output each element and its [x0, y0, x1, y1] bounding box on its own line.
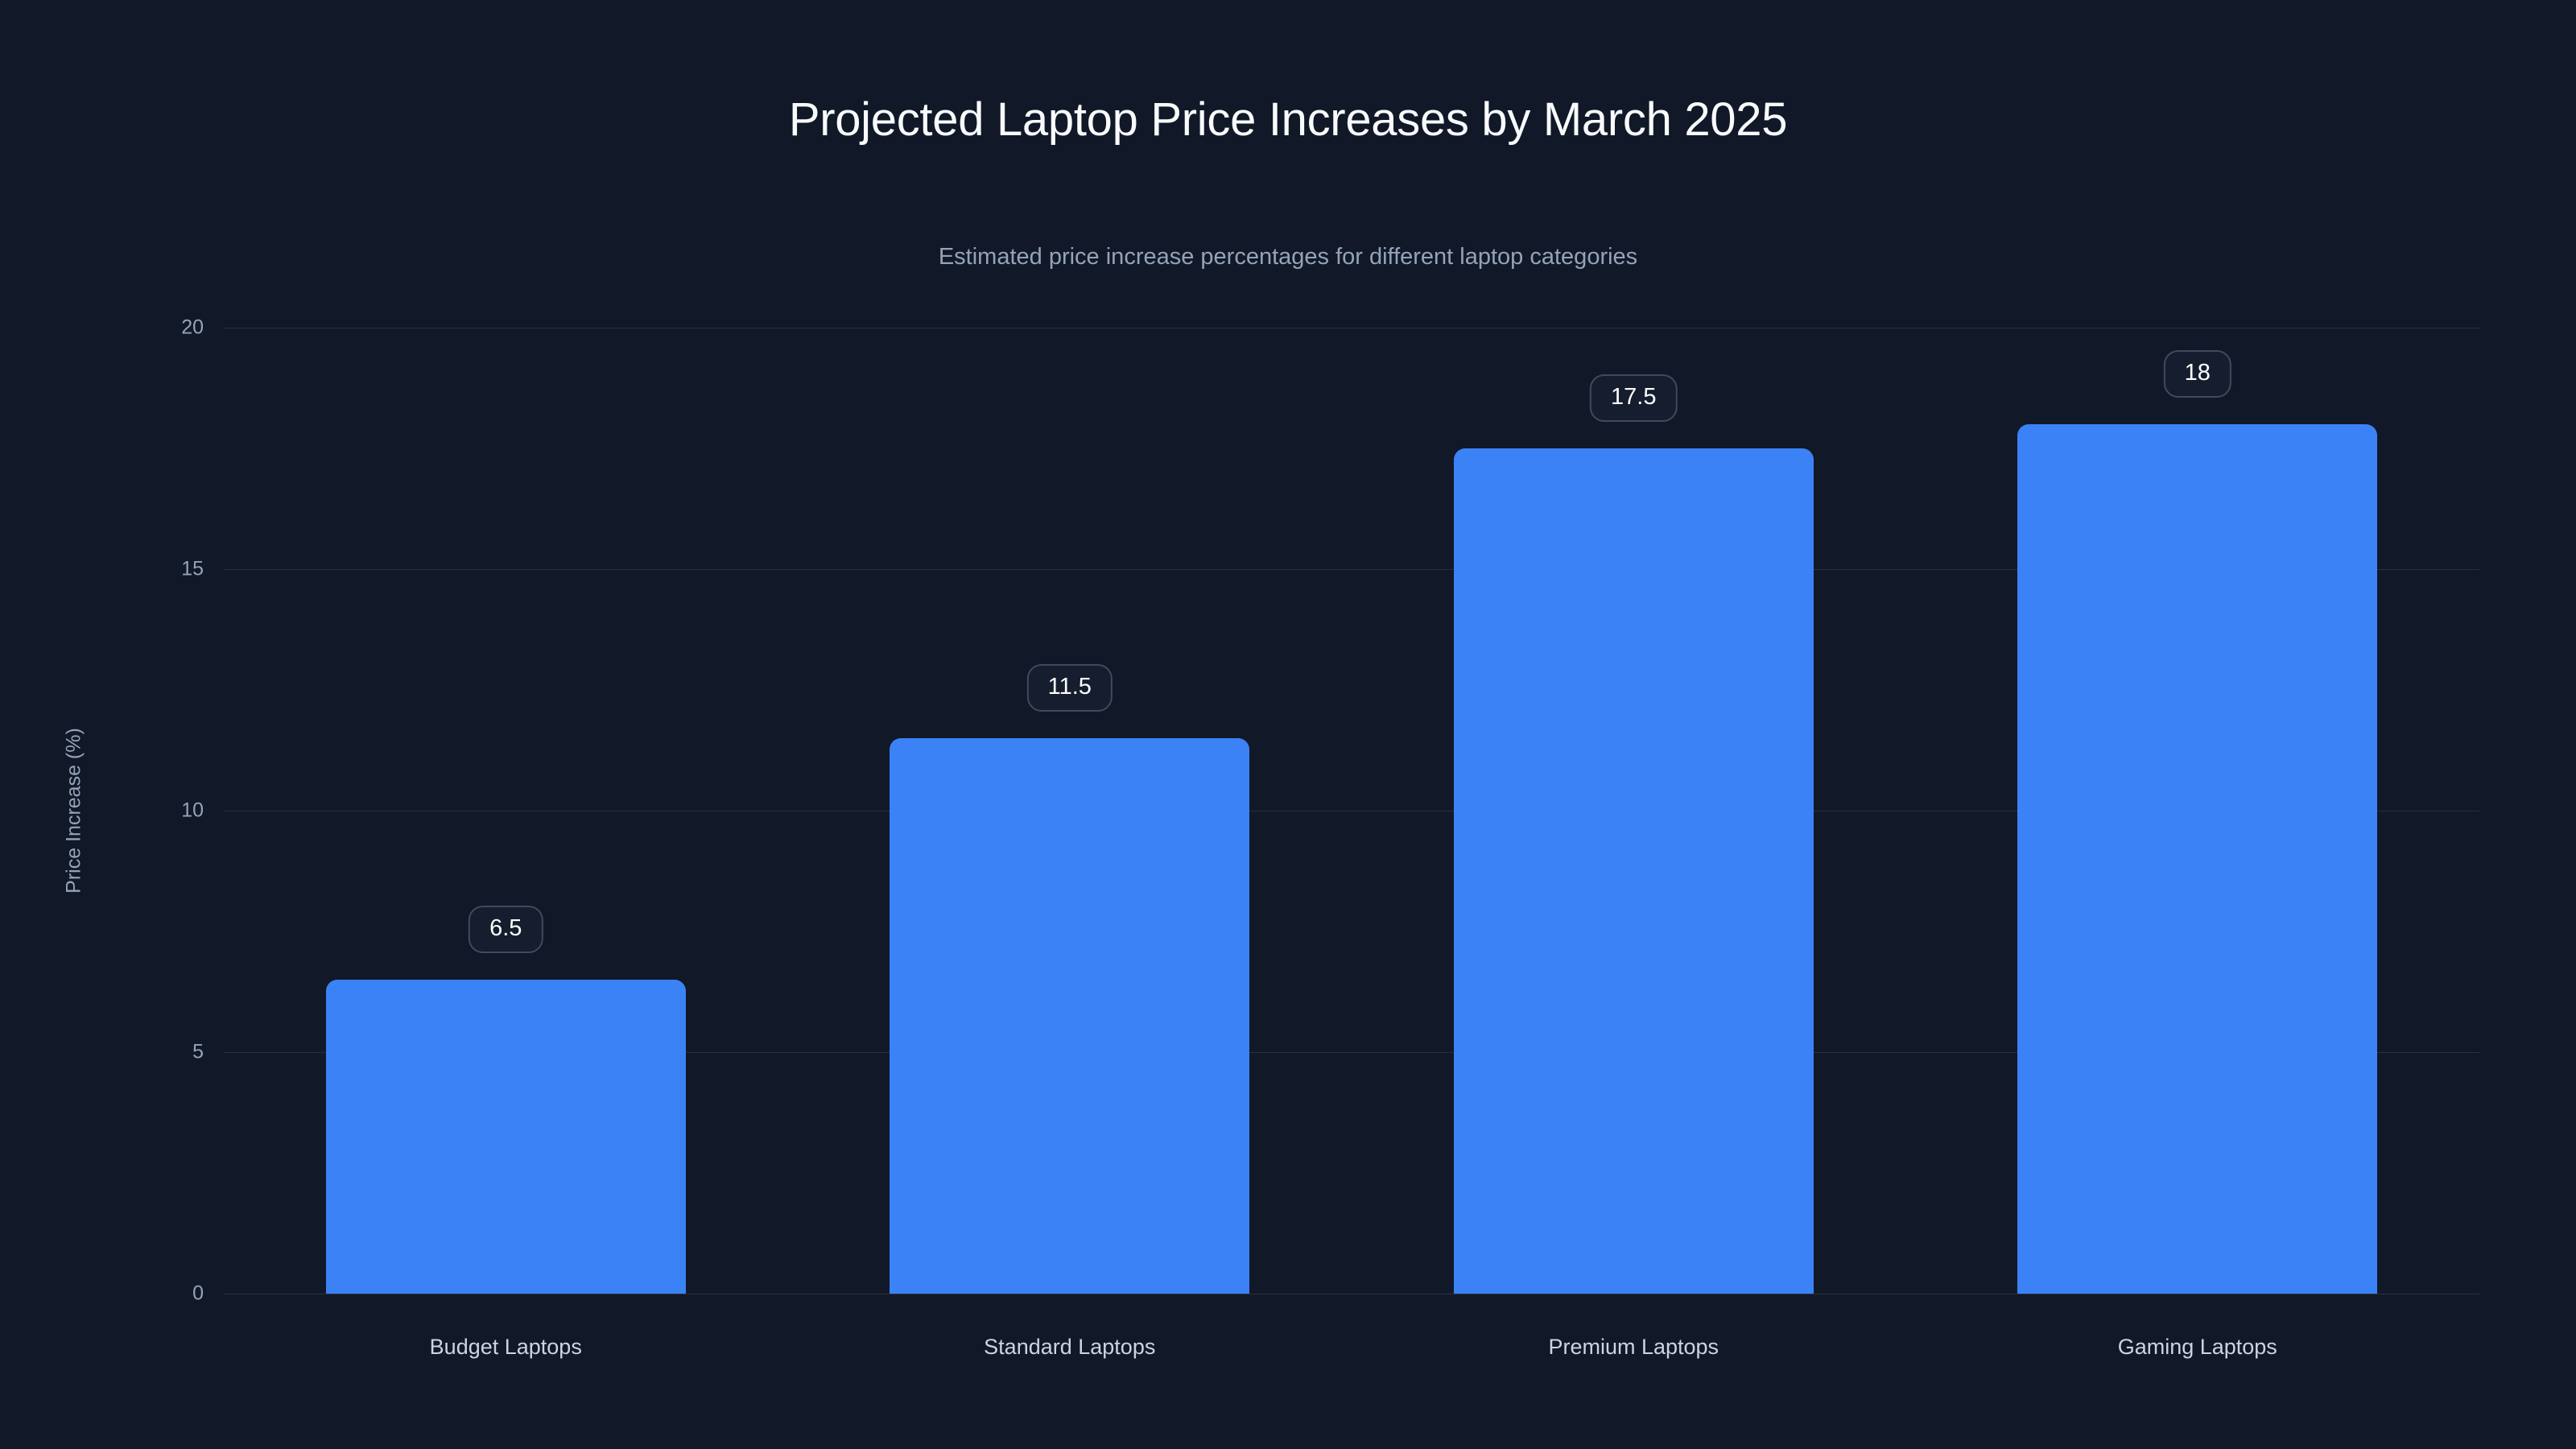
- x-axis-category-label: Budget Laptops: [430, 1335, 582, 1360]
- y-axis-tick-label: 0: [107, 1282, 204, 1306]
- bar-value-badge: 11.5: [1027, 664, 1113, 712]
- bar-value-badge: 18: [2164, 350, 2231, 398]
- y-axis-title: Price Increase (%): [63, 728, 86, 894]
- y-axis-tick-label: 20: [107, 316, 204, 340]
- bar[interactable]: [326, 980, 686, 1294]
- bar-value-badge: 17.5: [1590, 374, 1677, 422]
- plot-area: [224, 328, 2479, 1294]
- chart-subtitle: Estimated price increase percentages for…: [0, 244, 2576, 270]
- bar[interactable]: [2017, 424, 2377, 1294]
- gridline: [224, 328, 2479, 328]
- bar-value-badge: 6.5: [469, 906, 543, 953]
- bar[interactable]: [890, 738, 1249, 1294]
- bar[interactable]: [1454, 448, 1814, 1294]
- x-axis-category-label: Premium Laptops: [1548, 1335, 1719, 1360]
- y-axis-tick-label: 10: [107, 799, 204, 823]
- x-axis-category-label: Gaming Laptops: [2118, 1335, 2277, 1360]
- x-axis-category-label: Standard Laptops: [984, 1335, 1155, 1360]
- chart-canvas: Projected Laptop Price Increases by Marc…: [0, 0, 2576, 1449]
- page-title: Projected Laptop Price Increases by Marc…: [0, 93, 2576, 147]
- y-axis-tick-label: 15: [107, 558, 204, 581]
- y-axis-tick-label: 5: [107, 1041, 204, 1064]
- gridline: [224, 1294, 2479, 1294]
